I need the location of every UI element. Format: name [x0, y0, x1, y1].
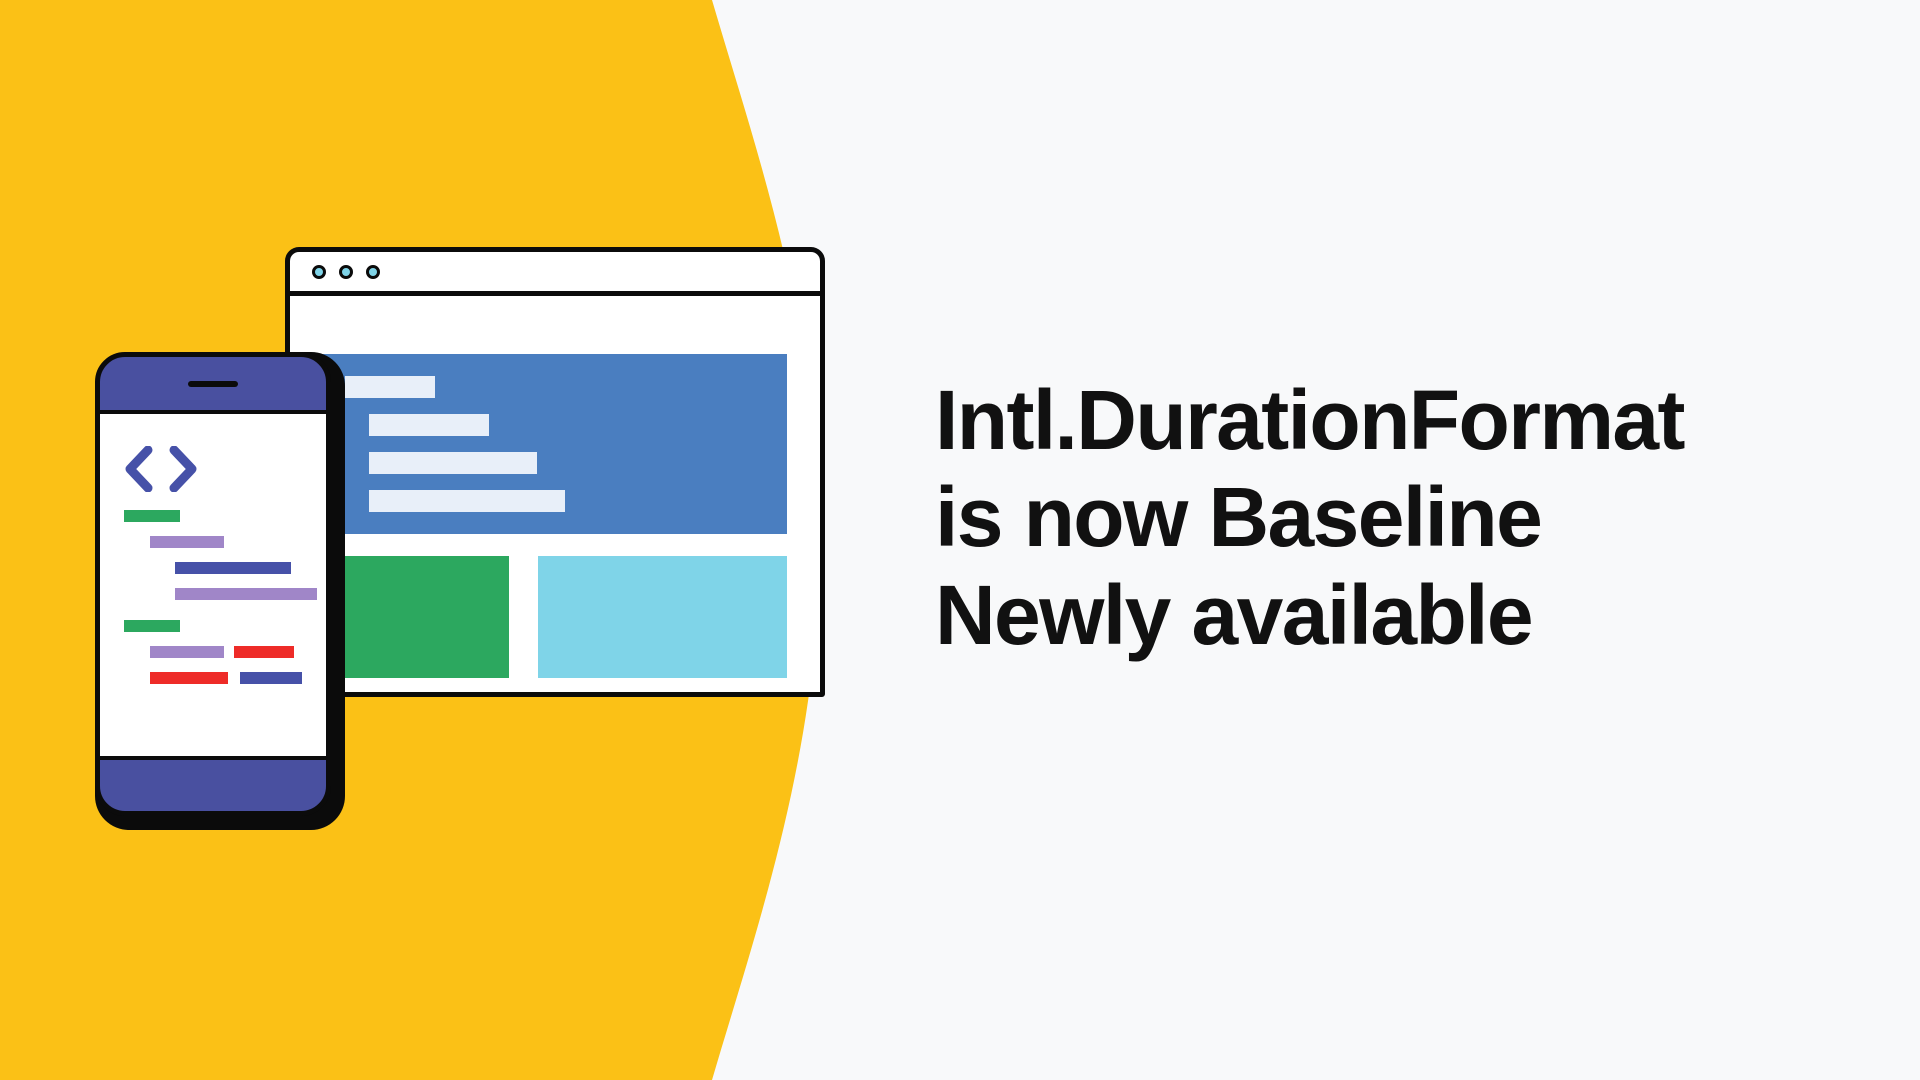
hero-panel-line — [369, 414, 489, 436]
code-line — [234, 646, 294, 658]
hero-panel-line — [369, 490, 565, 512]
headline: Intl.DurationFormat is now Baseline Newl… — [935, 372, 1835, 664]
phone-screen — [100, 410, 326, 760]
code-line — [124, 510, 180, 522]
code-line — [175, 562, 291, 574]
announcement-card: Intl.DurationFormat is now Baseline Newl… — [0, 0, 1920, 1080]
browser-titlebar — [290, 252, 820, 296]
headline-line-1: Intl.DurationFormat — [935, 372, 1835, 469]
traffic-light-maximize-icon — [366, 265, 380, 279]
content-card-green — [321, 556, 509, 678]
headline-line-3: Newly available — [935, 567, 1835, 664]
code-line — [150, 536, 224, 548]
code-line — [150, 672, 228, 684]
phone-body — [95, 352, 331, 816]
hero-panel-line — [345, 376, 435, 398]
hero-panel-line — [369, 452, 537, 474]
content-card-cyan — [538, 556, 787, 678]
code-chevrons-icon — [124, 446, 198, 492]
code-line — [124, 620, 180, 632]
headline-line-2: is now Baseline — [935, 469, 1835, 566]
code-line — [240, 672, 302, 684]
phone-earpiece-speaker — [188, 381, 238, 387]
traffic-light-minimize-icon — [339, 265, 353, 279]
browser-window-mockup — [285, 247, 825, 697]
browser-content-area — [290, 296, 820, 692]
hero-panel — [321, 354, 787, 534]
code-line — [175, 588, 317, 600]
code-line — [150, 646, 224, 658]
phone-mockup — [95, 352, 345, 830]
traffic-light-close-icon — [312, 265, 326, 279]
